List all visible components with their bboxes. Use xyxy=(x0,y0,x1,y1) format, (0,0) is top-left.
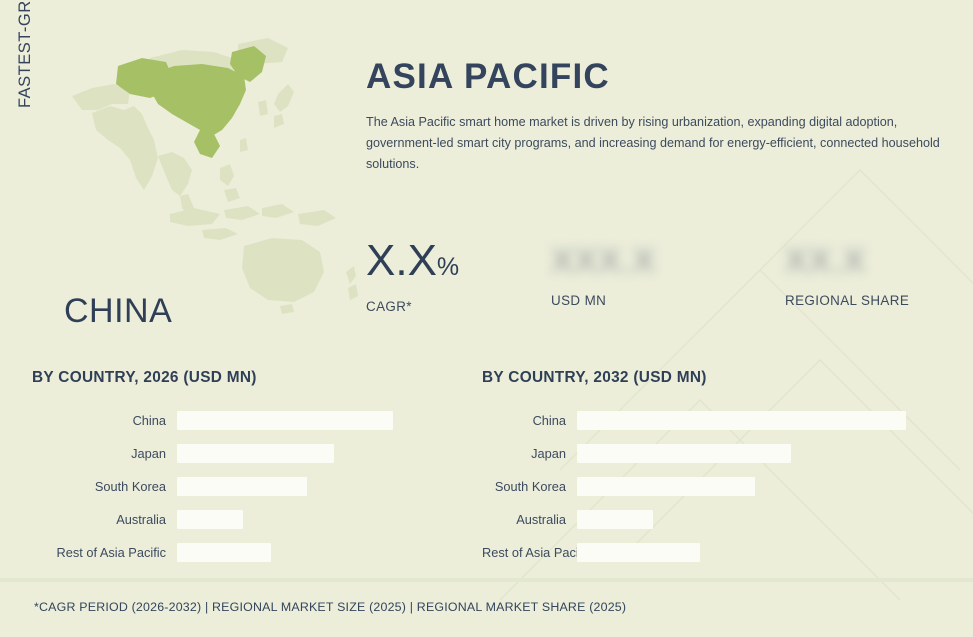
footer-divider xyxy=(0,578,973,582)
bar-label: China xyxy=(482,413,577,428)
fastest-growing-country-name: CHINA xyxy=(64,292,172,331)
kpi-regional-share: XX.X REGIONAL SHARE xyxy=(785,236,909,308)
bar-fill xyxy=(177,444,334,463)
bar-row: Japan xyxy=(32,444,452,463)
asia-pacific-map xyxy=(62,18,362,318)
chart-by-country-2026: BY COUNTRY, 2026 (USD MN) China Japan So… xyxy=(32,369,452,576)
kpi-regional-share-value: XX.X xyxy=(785,236,909,286)
bar-label: Rest of Asia Pacific xyxy=(482,545,577,560)
region-description: The Asia Pacific smart home market is dr… xyxy=(366,112,941,175)
bar-track xyxy=(177,444,452,463)
kpi-market-size-value: XXX.X xyxy=(551,236,656,286)
bar-label: South Korea xyxy=(32,479,177,494)
chart-2032-title: BY COUNTRY, 2032 (USD MN) xyxy=(482,369,942,387)
chart-2026-title: BY COUNTRY, 2026 (USD MN) xyxy=(32,369,452,387)
kpi-market-size: XXX.X USD MN xyxy=(551,236,656,308)
bar-fill xyxy=(577,444,791,463)
bar-track xyxy=(577,411,942,430)
bar-row: China xyxy=(482,411,942,430)
bar-fill xyxy=(577,411,906,430)
bar-fill xyxy=(577,543,700,562)
kpi-regional-share-label: REGIONAL SHARE xyxy=(785,293,909,308)
chart-by-country-2032: BY COUNTRY, 2032 (USD MN) China Japan So… xyxy=(482,369,942,576)
bar-track xyxy=(177,510,452,529)
bar-row: Rest of Asia Pacific xyxy=(482,543,942,562)
bar-fill xyxy=(577,510,653,529)
bar-row: Japan xyxy=(482,444,942,463)
bar-fill xyxy=(177,477,307,496)
bar-label: Rest of Asia Pacific xyxy=(32,545,177,560)
footer-note: *CAGR PERIOD (2026-2032) | REGIONAL MARK… xyxy=(34,600,626,614)
kpi-cagr-number: X.X xyxy=(366,236,437,285)
kpi-cagr-percent-sign: % xyxy=(437,253,459,281)
bar-fill xyxy=(577,477,755,496)
bar-track xyxy=(177,477,452,496)
bar-label: Japan xyxy=(482,446,577,461)
bar-track xyxy=(577,543,942,562)
page-title: ASIA PACIFIC xyxy=(366,57,610,97)
bar-track xyxy=(577,510,942,529)
bar-row: South Korea xyxy=(32,477,452,496)
bar-row: Australia xyxy=(32,510,452,529)
kpi-market-size-label: USD MN xyxy=(551,293,656,308)
bar-fill xyxy=(177,543,271,562)
bar-fill xyxy=(177,510,243,529)
bar-row: Australia xyxy=(482,510,942,529)
bar-label: China xyxy=(32,413,177,428)
bar-label: Japan xyxy=(32,446,177,461)
bar-row: China xyxy=(32,411,452,430)
bar-track xyxy=(577,477,942,496)
kpi-cagr: X.X% CAGR* xyxy=(366,236,459,314)
bar-fill xyxy=(177,411,393,430)
infographic-canvas: FASTEST-GROWING COUNTRY xyxy=(0,0,973,637)
bar-label: Australia xyxy=(482,512,577,527)
bar-label: South Korea xyxy=(482,479,577,494)
bar-track xyxy=(577,444,942,463)
chart-2032-bars: China Japan South Korea Australia xyxy=(482,411,942,562)
bar-row: Rest of Asia Pacific xyxy=(32,543,452,562)
kpi-cagr-label: CAGR* xyxy=(366,299,459,314)
asia-pacific-map-icon xyxy=(62,18,362,318)
bar-label: Australia xyxy=(32,512,177,527)
bar-row: South Korea xyxy=(482,477,942,496)
kpi-cagr-value: X.X% xyxy=(366,236,459,292)
bar-track xyxy=(177,411,452,430)
fastest-growing-country-rail-label: FASTEST-GROWING COUNTRY xyxy=(16,0,35,108)
bar-track xyxy=(177,543,452,562)
chart-2026-bars: China Japan South Korea Australia xyxy=(32,411,452,562)
